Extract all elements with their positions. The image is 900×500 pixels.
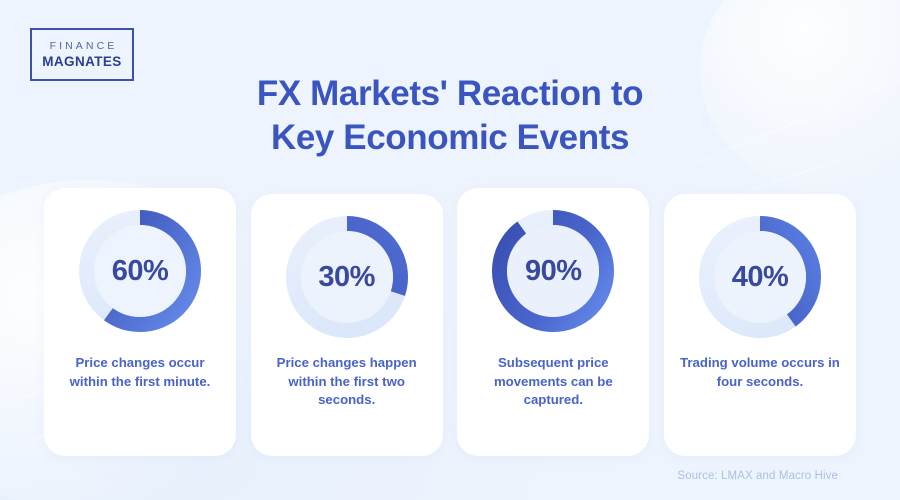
donut-chart: 90%: [492, 210, 614, 332]
donut-chart: 60%: [79, 210, 201, 332]
page-title-line-1: FX Markets' Reaction to: [0, 72, 900, 116]
donut-chart: 30%: [286, 216, 408, 338]
stat-card-caption: Subsequent price movements can be captur…: [457, 354, 649, 410]
donut-value: 60%: [79, 210, 201, 332]
stat-card: 60% Price changes occur within the first…: [44, 188, 236, 456]
stat-card: 90% Subsequent price movements can be ca…: [457, 188, 649, 456]
page-title-line-2: Key Economic Events: [0, 116, 900, 160]
logo-line-magnates: MAGNATES: [42, 55, 121, 69]
donut-value: 30%: [286, 216, 408, 338]
page-title: FX Markets' Reaction to Key Economic Eve…: [0, 72, 900, 160]
logo-line-finance: FINANCE: [47, 41, 118, 52]
stat-card-caption: Trading volume occurs in four seconds.: [664, 354, 856, 391]
donut-chart: 40%: [699, 216, 821, 338]
stat-card: 30% Price changes happen within the firs…: [251, 194, 443, 456]
source-note: Source: LMAX and Macro Hive: [677, 470, 838, 482]
donut-value: 40%: [699, 216, 821, 338]
stat-card: 40% Trading volume occurs in four second…: [664, 194, 856, 456]
stat-card-caption: Price changes happen within the first tw…: [251, 354, 443, 410]
donut-value: 90%: [492, 210, 614, 332]
stat-card-caption: Price changes occur within the first min…: [44, 354, 236, 391]
stat-card-row: 60% Price changes occur within the first…: [44, 188, 856, 456]
